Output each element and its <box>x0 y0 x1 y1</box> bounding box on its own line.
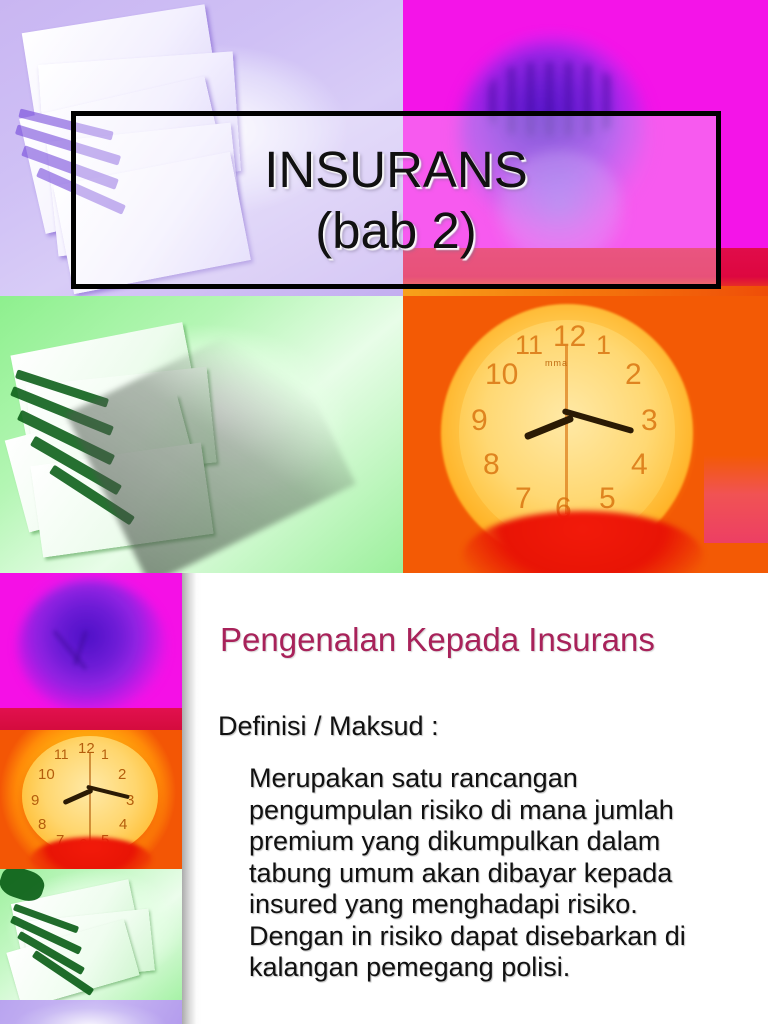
section-heading: Pengenalan Kepada Insurans <box>220 621 655 659</box>
slide-deck: INSURANS (bab 2) mma 12111 102 93 84 756 <box>0 0 768 1024</box>
slide-1-title-box: INSURANS (bab 2) <box>71 111 721 289</box>
paragraph-line: tabung umum akan dibayar kepada <box>249 858 759 890</box>
title-line-2: (bab 2) <box>264 205 528 256</box>
document-photo-lavender <box>0 1000 182 1024</box>
clock-photo-yellow: 12111 102 93 84 756 <box>0 730 182 869</box>
definition-label: Definisi / Maksud : <box>218 711 439 742</box>
paragraph-line: premium yang dikumpulkan dalam <box>249 826 759 858</box>
document-stack-photo-green <box>0 296 403 573</box>
page-title: INSURANS (bab 2) <box>264 144 528 256</box>
wall-clock-photo-yellow: mma 12111 102 93 84 756 <box>403 296 768 573</box>
clock-brand-text: mma <box>545 358 568 368</box>
clock-photo-purple <box>0 573 182 730</box>
slide-3-image-sidebar: 12111 102 93 84 756 <box>0 573 182 1024</box>
title-line-1: INSURANS <box>264 141 528 198</box>
paragraph-line: insured yang menghadapi risiko. <box>249 889 759 921</box>
slide-2-objectives: mma 12111 102 93 84 756 Setelah mempelaj… <box>0 296 768 573</box>
slide-3-content: Pengenalan Kepada Insurans Definisi / Ma… <box>213 573 768 1024</box>
sidebar-shadow <box>182 573 202 1024</box>
definition-paragraph: Merupakan satu rancangan pengumpulan ris… <box>249 763 759 984</box>
paragraph-line: Dengan in risiko dapat disebarkan di <box>249 921 759 953</box>
slide-1-title: INSURANS (bab 2) <box>0 0 768 296</box>
paragraph-line: kalangan pemegang polisi. <box>249 952 759 984</box>
document-stack-photo-green <box>0 869 182 1000</box>
slide-3-introduction: 12111 102 93 84 756 Pengenalan Kepada In… <box>0 573 768 1024</box>
paragraph-line: Merupakan satu rancangan <box>249 763 759 795</box>
paragraph-line: pengumpulan risiko di mana jumlah <box>249 795 759 827</box>
